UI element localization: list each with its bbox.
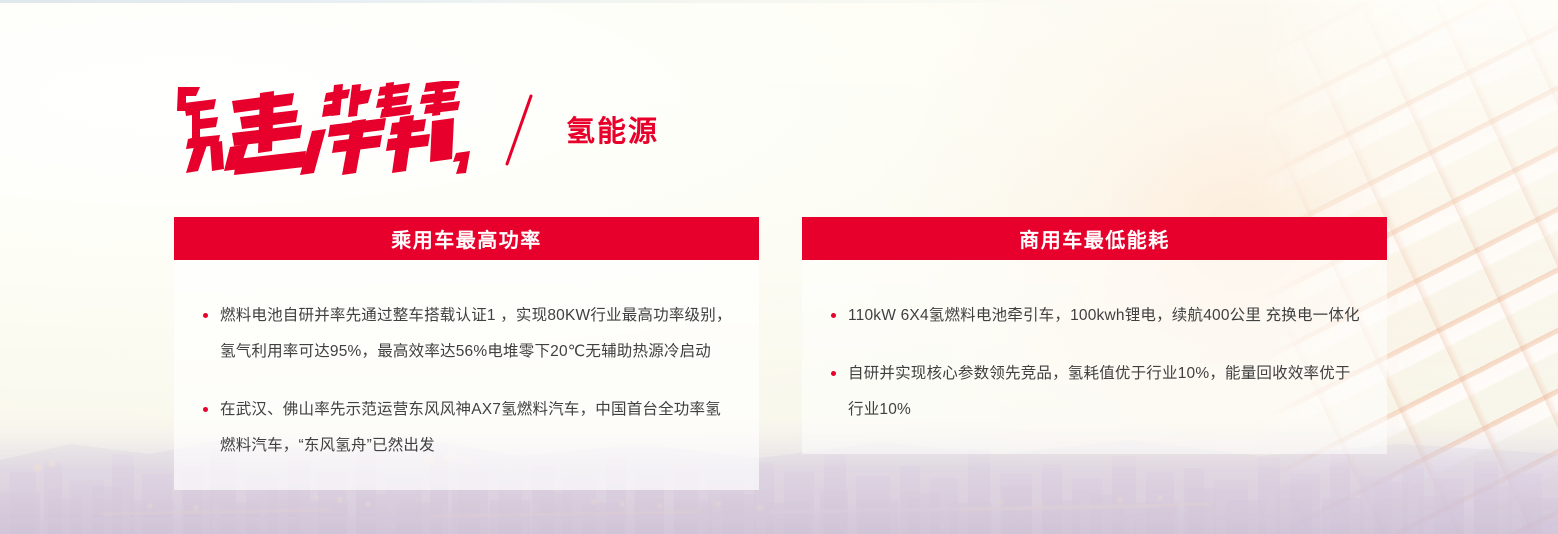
card-commercial-vehicle: 商用车最低能耗 110kW 6X4氢燃料电池牵引车，100kwh锂电，续航400… <box>802 217 1387 490</box>
card-header-commercial: 商用车最低能耗 <box>802 217 1387 260</box>
card-header-passenger: 乘用车最高功率 <box>174 217 759 260</box>
brand-logo-icon <box>174 81 474 177</box>
list-item: 110kW 6X4氢燃料电池牵引车，100kwh锂电，续航400公里 充换电一体… <box>828 298 1361 334</box>
sub-title: 氢能源 <box>566 118 659 147</box>
brand-header: 氢能源 <box>174 74 659 184</box>
card-passenger-vehicle: 乘用车最高功率 燃料电池自研并率先通过整车搭载认证1 ，实现80KW行业最高功率… <box>174 217 759 490</box>
divider-slash-icon <box>500 86 540 172</box>
brand-logo <box>174 81 474 177</box>
cards-row: 乘用车最高功率 燃料电池自研并率先通过整车搭载认证1 ，实现80KW行业最高功率… <box>174 217 1387 490</box>
list-item: 自研并实现核心参数领先竞品，氢耗值优于行业10%，能量回收效率优于行业10% <box>828 356 1361 428</box>
card-body-passenger: 燃料电池自研并率先通过整车搭载认证1 ，实现80KW行业最高功率级别，氢气利用率… <box>174 260 759 490</box>
bullet-list-commercial: 110kW 6X4氢燃料电池牵引车，100kwh锂电，续航400公里 充换电一体… <box>828 298 1361 428</box>
list-item: 在武汉、佛山率先示范运营东风风神AX7氢燃料汽车，中国首台全功率氢燃料汽车，“东… <box>200 392 733 464</box>
bullet-list-passenger: 燃料电池自研并率先通过整车搭载认证1 ，实现80KW行业最高功率级别，氢气利用率… <box>200 298 733 464</box>
card-body-commercial: 110kW 6X4氢燃料电池牵引车，100kwh锂电，续航400公里 充换电一体… <box>802 260 1387 454</box>
list-item: 燃料电池自研并率先通过整车搭载认证1 ，实现80KW行业最高功率级别，氢气利用率… <box>200 298 733 370</box>
slide-stage: 氢能源 乘用车最高功率 燃料电池自研并率先通过整车搭载认证1 ，实现80KW行业… <box>0 0 1558 534</box>
